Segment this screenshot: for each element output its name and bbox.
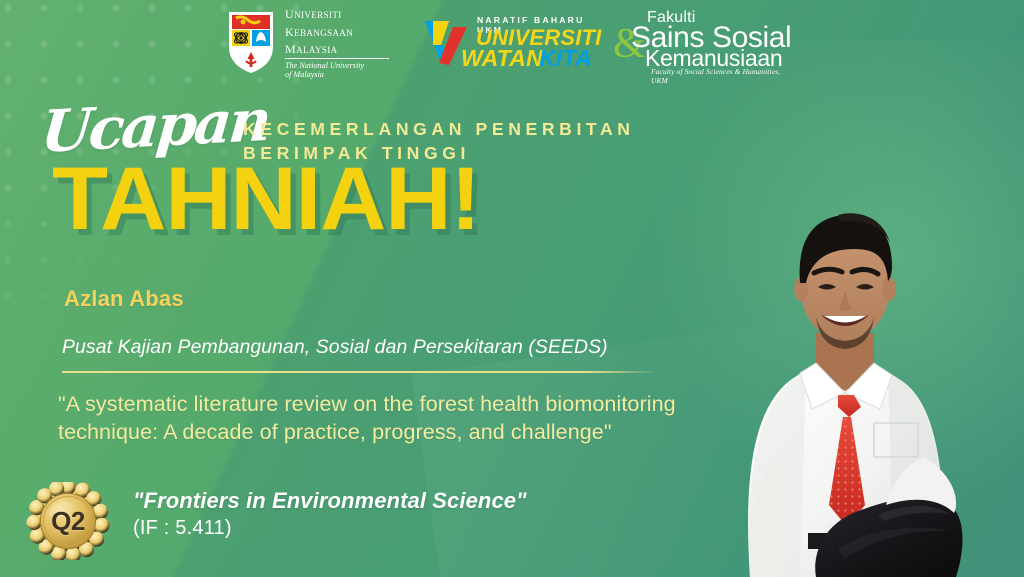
ukm-logo-text: Universiti Kebangsaan Malaysia The Natio… <box>285 4 389 79</box>
naratif-word-watan: WATAN <box>461 45 543 72</box>
logo-bar: Universiti Kebangsaan Malaysia The Natio… <box>0 0 1024 84</box>
journal-block: Q2 "Frontiers in Environmental Science" … <box>0 482 720 562</box>
naratif-baharu-ukm-logo: NARATIF BAHARU UKM UNIVERSITI WATAN KITA <box>415 13 587 71</box>
award-poster: Universiti Kebangsaan Malaysia The Natio… <box>0 0 1024 577</box>
tahniah-title: TAHNIAH! <box>52 154 480 243</box>
ukm-subtitle-line-2: of Malaysia <box>285 70 389 79</box>
quartile-badge-label: Q2 <box>26 482 110 560</box>
journal-text-block: "Frontiers in Environmental Science" (IF… <box>133 488 527 540</box>
recipient-name: Azlan Abas <box>64 286 730 312</box>
content-divider <box>62 371 658 373</box>
recipient-block: Azlan Abas Pusat Kajian Pembangunan, Sos… <box>0 286 730 446</box>
fssk-logo: & Fakulti Sains Sosial Kemanusiaan Facul… <box>613 9 798 75</box>
ukm-line-3: Malaysia <box>285 39 389 56</box>
recipient-affiliation: Pusat Kajian Pembangunan, Sosial dan Per… <box>62 336 730 359</box>
ukm-logo: Universiti Kebangsaan Malaysia The Natio… <box>226 4 389 79</box>
journal-name: "Frontiers in Environmental Science" <box>133 488 527 514</box>
ukm-crest-icon <box>226 9 276 75</box>
headline-block: Ucapan KECEMERLANGAN PENERBITAN BERIMPAK… <box>0 96 700 162</box>
paper-title: "A systematic literature review on the f… <box>58 391 728 446</box>
quartile-badge: Q2 <box>26 482 110 560</box>
ukm-line-2: Kebangsaan <box>285 22 389 39</box>
naratif-word-kita: KITA <box>539 45 592 72</box>
kicker-line-1: KECEMERLANGAN PENERBITAN <box>243 118 635 142</box>
ukm-divider <box>285 58 389 59</box>
journal-impact-factor: (IF : 5.411) <box>133 517 527 540</box>
ukm-line-1: Universiti <box>285 4 389 21</box>
awardee-photo <box>688 157 998 577</box>
fssk-subtitle: Faculty of Social Sciences & Humanities,… <box>651 67 798 85</box>
ukm-subtitle-line-1: The National University <box>285 61 389 70</box>
